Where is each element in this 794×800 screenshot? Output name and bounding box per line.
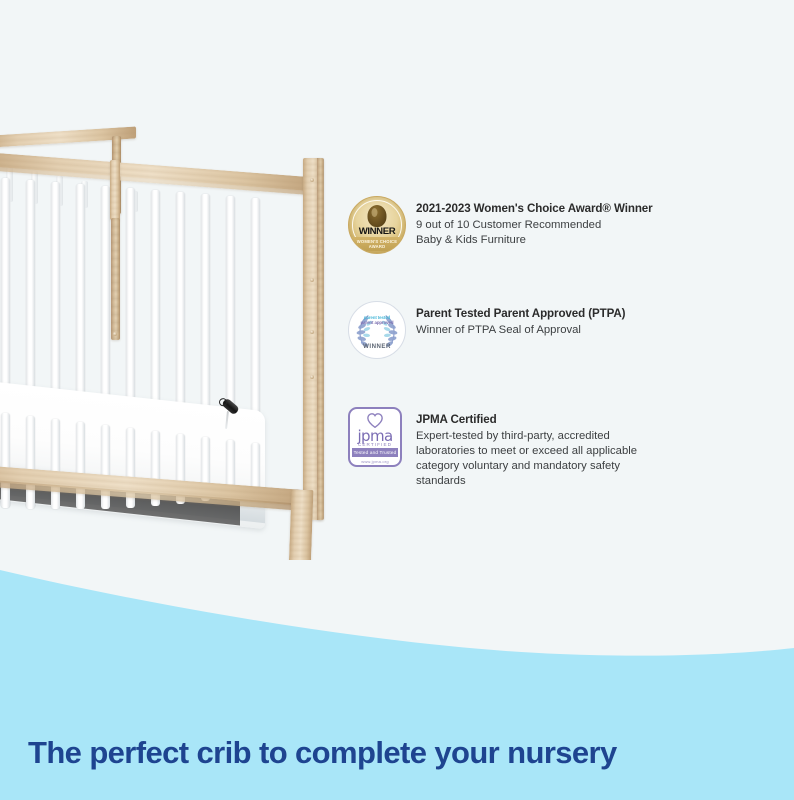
award-item-jpma: jpma CERTIFIED Tested and Trusted www.jp… bbox=[348, 407, 698, 489]
crib-inner-post bbox=[110, 160, 120, 220]
heart-icon bbox=[367, 413, 384, 428]
page-headline: The perfect crib to complete your nurser… bbox=[28, 735, 617, 771]
badge-winner-label: WINNER bbox=[349, 226, 405, 237]
award-description: Expert-tested by third-party, accredited… bbox=[416, 429, 637, 489]
crib-screw bbox=[310, 178, 314, 182]
ptpa-wordmark-line2: parent approved bbox=[360, 321, 394, 325]
womens-choice-badge-circle: WINNER WOMEN'S CHOICE AWARD bbox=[348, 196, 406, 254]
award-text-block: Parent Tested Parent Approved (PTPA) Win… bbox=[416, 301, 625, 338]
crib-screw bbox=[310, 278, 314, 282]
award-text-block: JPMA Certified Expert-tested by third-pa… bbox=[416, 407, 637, 489]
jpma-badge-box: jpma CERTIFIED Tested and Trusted www.jp… bbox=[348, 407, 402, 467]
crib-slat-front bbox=[101, 425, 110, 509]
badge-subline-2: AWARD bbox=[349, 244, 405, 249]
crib-product-image bbox=[0, 0, 330, 560]
crib-screw bbox=[113, 332, 117, 336]
crib-slat-front bbox=[26, 416, 35, 509]
jpma-url-label: www.jpma.org bbox=[350, 459, 400, 464]
awards-list: WINNER WOMEN'S CHOICE AWARD 2021-2023 Wo… bbox=[348, 196, 698, 489]
crib-slat-front bbox=[51, 419, 60, 509]
jpma-trusted-band: Tested and Trusted bbox=[352, 448, 398, 457]
badge-subline-1: WOMEN'S CHOICE bbox=[349, 239, 405, 244]
trophy-figure-icon bbox=[368, 205, 387, 227]
award-item-womens-choice: WINNER WOMEN'S CHOICE AWARD 2021-2023 Wo… bbox=[348, 196, 698, 254]
ptpa-winner-label: WINNER bbox=[349, 343, 405, 350]
jpma-certified-badge: jpma CERTIFIED Tested and Trusted www.jp… bbox=[348, 407, 406, 465]
award-description: 9 out of 10 Customer Recommended Baby & … bbox=[416, 218, 653, 248]
ptpa-wordmark: parent tested parent approved bbox=[360, 316, 394, 326]
award-text-block: 2021-2023 Women's Choice Award® Winner 9… bbox=[416, 196, 653, 248]
award-title: JPMA Certified bbox=[416, 413, 637, 427]
crib-screw bbox=[310, 375, 314, 379]
award-title: Parent Tested Parent Approved (PTPA) bbox=[416, 307, 625, 321]
promo-page: WINNER WOMEN'S CHOICE AWARD 2021-2023 Wo… bbox=[0, 0, 794, 800]
womens-choice-award-badge: WINNER WOMEN'S CHOICE AWARD bbox=[348, 196, 406, 254]
award-description: Winner of PTPA Seal of Approval bbox=[416, 323, 625, 338]
crib-screw bbox=[310, 330, 314, 334]
crib-slat-front bbox=[1, 413, 10, 508]
crib-right-corner-post-shadow bbox=[317, 158, 324, 520]
crib-right-leg bbox=[289, 490, 314, 560]
ptpa-seal-badge: parent tested parent approved WINNER bbox=[348, 301, 406, 359]
crib-illustration bbox=[0, 0, 330, 560]
jpma-certified-label: CERTIFIED bbox=[350, 442, 400, 447]
crib-slat-front bbox=[76, 422, 85, 509]
crib-inner-post-lower bbox=[111, 218, 120, 340]
award-item-ptpa: parent tested parent approved WINNER Par… bbox=[348, 301, 698, 359]
ptpa-badge-circle: parent tested parent approved WINNER bbox=[348, 301, 406, 359]
award-title: 2021-2023 Women's Choice Award® Winner bbox=[416, 202, 653, 216]
